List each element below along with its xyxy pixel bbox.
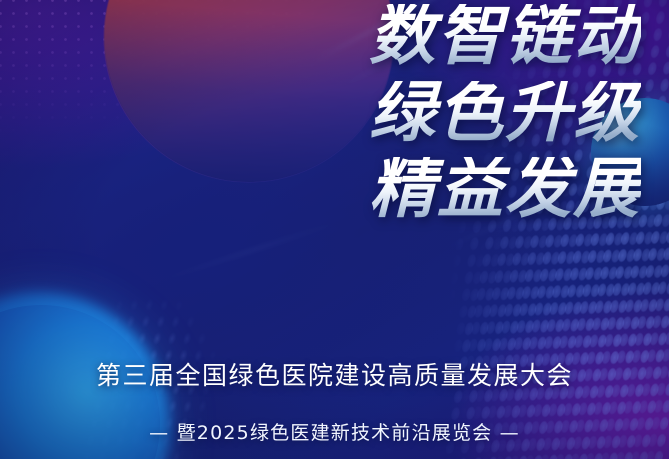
headline-line-1: 数智链动 — [369, 4, 641, 69]
banner-content: 数智链动 绿色升级 精益发展 第三届全国绿色医院建设高质量发展大会 — 暨202… — [0, 0, 669, 459]
headline-line-2: 绿色升级 — [369, 81, 641, 146]
headline-line-3: 精益发展 — [369, 157, 641, 222]
conference-title: 第三届全国绿色医院建设高质量发展大会 — [0, 356, 669, 392]
exhibition-subtitle: — 暨2025绿色医建新技术前沿展览会 — — [0, 418, 669, 445]
conference-banner: 数智链动 绿色升级 精益发展 第三届全国绿色医院建设高质量发展大会 — 暨202… — [0, 0, 669, 459]
headline-block: 数智链动 绿色升级 精益发展 — [369, 4, 641, 222]
